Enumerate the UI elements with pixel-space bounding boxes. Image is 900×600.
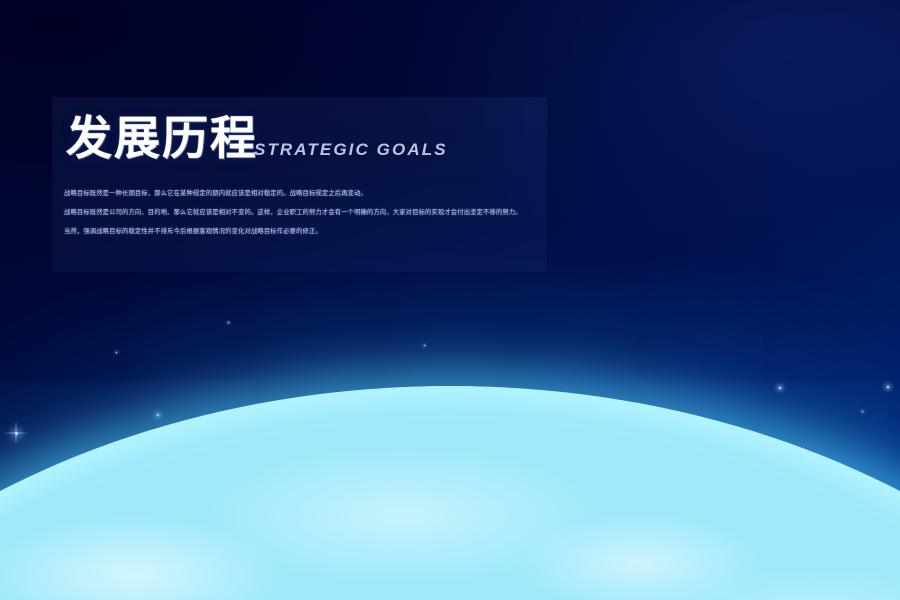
body-line: 战略目标既然是一种长期目标，那么它在某种规定的期内就应该是相对稳定的。战略目标规… — [64, 184, 534, 203]
page-title: 发展历程 STRATEGIC GOALS — [66, 115, 448, 161]
body-line: 战略目标既然是公司的方向、目的地、那么它就应该是相对不变的。这样，企业职工的努力… — [64, 203, 534, 222]
star-small-d-icon — [779, 387, 781, 389]
earth-terrain-layer — [0, 386, 900, 600]
star-small-b-icon — [228, 322, 229, 323]
star-small-f-icon — [862, 411, 863, 412]
star-small-c-icon — [424, 345, 425, 346]
earth-cloud-texture-layer — [0, 386, 900, 600]
body-copy: 战略目标既然是一种长期目标，那么它在某种规定的期内就应该是相对稳定的。战略目标规… — [64, 184, 534, 241]
earth-atmosphere-limb — [0, 386, 900, 600]
title-english-subtitle: STRATEGIC GOALS — [254, 141, 448, 161]
star-bright-left-icon — [15, 432, 18, 435]
star-small-i-icon — [116, 352, 117, 353]
star-small-a-icon — [157, 414, 159, 416]
title-chinese: 发展历程 — [66, 115, 258, 161]
star-small-e-icon — [887, 386, 889, 388]
strategic-goals-banner: 发展历程 STRATEGIC GOALS 战略目标既然是一种长期目标，那么它在某… — [0, 0, 900, 600]
earth-shadow-layer — [0, 386, 900, 600]
body-line: 当然，强调战略目标的稳定性并不排斥今后根据客观情况的变化对战略目标作必要的修正。 — [64, 222, 534, 241]
earth-globe — [0, 386, 900, 600]
